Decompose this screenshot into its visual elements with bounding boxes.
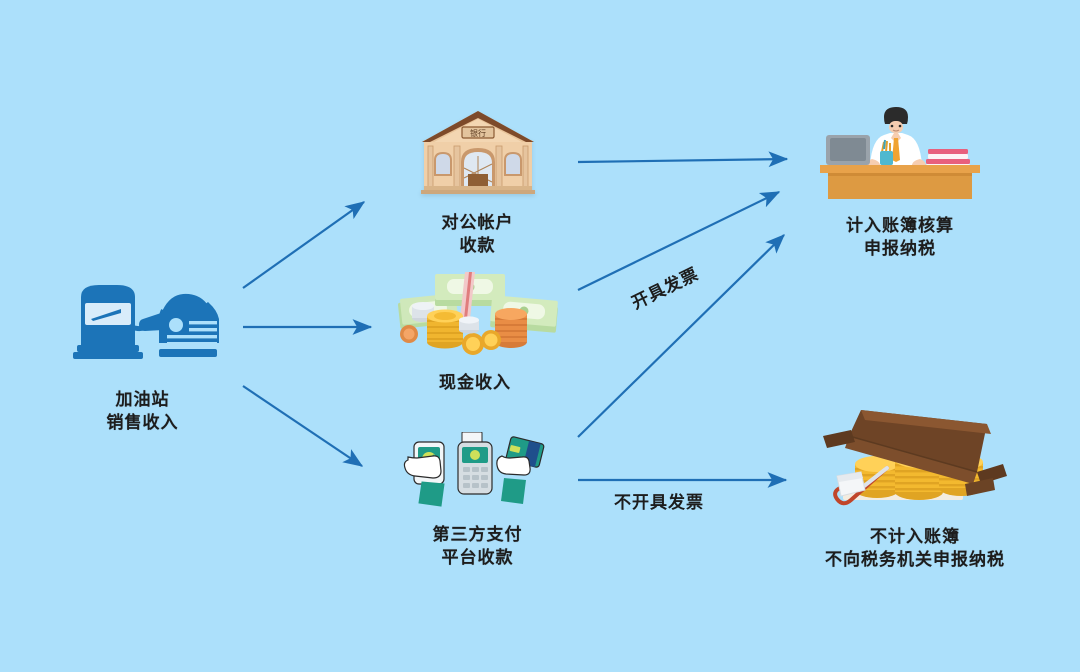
node-third-party-payment-label-line2: 平台收款	[385, 547, 570, 570]
node-hidden-income-label-line2: 不向税务机关申报纳税	[800, 549, 1030, 572]
node-gas-station-label-line2: 销售收入	[60, 412, 225, 435]
node-third-party-payment-label-line1: 第三方支付	[385, 524, 570, 547]
node-hidden-income-label-line1: 不计入账簿	[800, 526, 1030, 549]
edge-gas-to-bank	[243, 202, 364, 288]
edge-gas-to-thirdparty	[243, 386, 362, 466]
node-third-party-payment: 第三方支付 平台收款	[385, 432, 570, 570]
node-gas-station: 加油站 销售收入	[60, 275, 225, 435]
node-book-and-declare-label-line2: 申报纳税	[795, 238, 1005, 261]
pos-terminal-phone-card-icon	[398, 432, 558, 510]
svg-text:银行: 银行	[470, 128, 486, 138]
node-cash-income-label-line1: 现金收入	[380, 372, 570, 395]
box-trap-gold-coins-icon	[815, 398, 1015, 516]
node-bank-account-label-line1: 对公帐户	[385, 212, 570, 235]
node-hidden-income: 不计入账簿 不向税务机关申报纳税	[800, 398, 1030, 572]
diagram-canvas: 开具发票 不开具发票	[0, 0, 1080, 672]
node-cash-income: 现金收入	[380, 268, 570, 395]
edge-bank-to-books	[578, 159, 787, 162]
node-gas-station-label-line1: 加油站	[60, 389, 225, 412]
gas-station-car-icon	[63, 275, 223, 367]
edge-label-no-invoice: 不开具发票	[614, 488, 704, 513]
node-bank-account: 银行	[385, 108, 570, 258]
accountant-at-desk-icon	[810, 105, 990, 201]
bank-building-icon: 银行	[418, 108, 538, 194]
node-book-and-declare-label-line1: 计入账簿核算	[795, 215, 1005, 238]
node-book-and-declare: 计入账簿核算 申报纳税	[795, 105, 1005, 261]
node-bank-account-label-line2: 收款	[385, 235, 570, 258]
cash-and-coins-icon	[387, 268, 563, 358]
